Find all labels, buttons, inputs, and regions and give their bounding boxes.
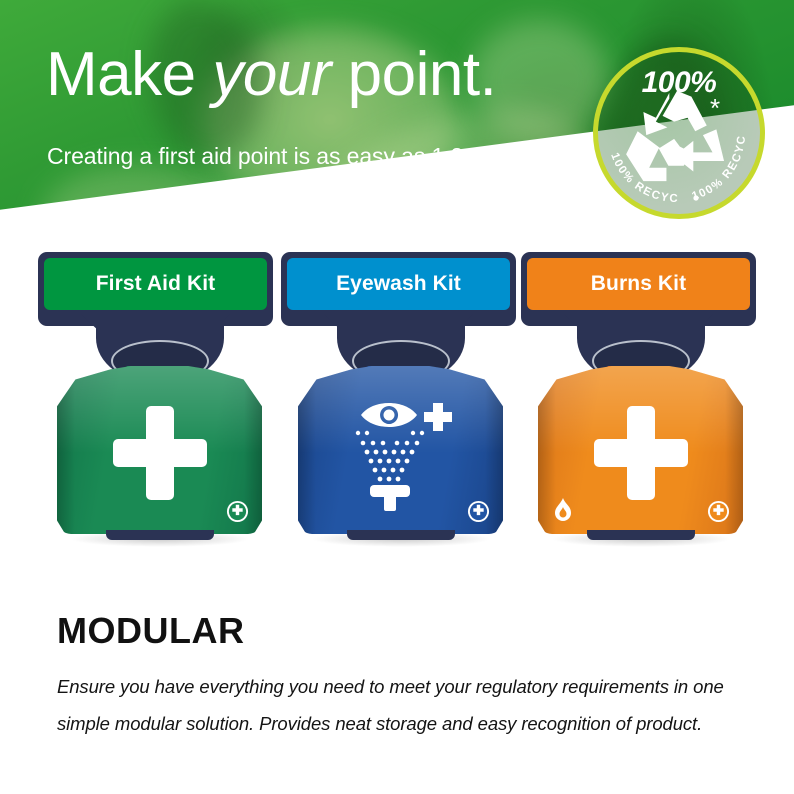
case-edge-shadow: [298, 366, 316, 534]
first-aid-circle-icon: [467, 500, 490, 523]
case-edge-shadow: [57, 366, 75, 534]
hero-subheadline: Creating a first aid point is as easy as…: [47, 143, 482, 170]
burns-kit-case[interactable]: [538, 322, 743, 537]
product-marketing-page: Make your point. Creating a first aid po…: [0, 0, 794, 794]
body-line-1: Ensure you have everything you need to m…: [57, 676, 724, 697]
recycle-icon: [624, 89, 730, 185]
eyewash-icon: [341, 393, 461, 511]
first-aid-circle-icon: [707, 500, 730, 523]
kit-label-first-aid[interactable]: First Aid Kit: [44, 258, 267, 310]
case-foot: [347, 530, 455, 540]
white-cross-emblem: [594, 406, 688, 500]
section-title: MODULAR: [57, 610, 244, 652]
recycled-plastic-badge: 100% RECYCLED PLASTIC 100% RECYCLABLE 10…: [593, 47, 765, 219]
body-line-2: simple modular solution. Provides neat s…: [57, 713, 702, 734]
eyewash-kit-case[interactable]: [298, 322, 503, 537]
white-cross-emblem: [113, 406, 207, 500]
headline-emphasis: your: [212, 40, 331, 109]
kit-label-burns[interactable]: Burns Kit: [527, 258, 750, 310]
kit-label-eyewash[interactable]: Eyewash Kit: [287, 258, 510, 310]
case-shell: [57, 366, 262, 534]
case-shell: [538, 366, 743, 534]
section-body: Ensure you have everything you need to m…: [57, 668, 747, 742]
first-aid-kit-case[interactable]: [57, 322, 262, 537]
headline-suffix: point.: [331, 40, 496, 109]
first-aid-circle-icon: [226, 500, 249, 523]
case-foot: [587, 530, 695, 540]
case-shell: [298, 366, 503, 534]
headline-prefix: Make: [46, 40, 212, 109]
case-foot: [106, 530, 214, 540]
flame-icon: [552, 498, 574, 523]
hero-headline: Make your point.: [46, 42, 496, 108]
